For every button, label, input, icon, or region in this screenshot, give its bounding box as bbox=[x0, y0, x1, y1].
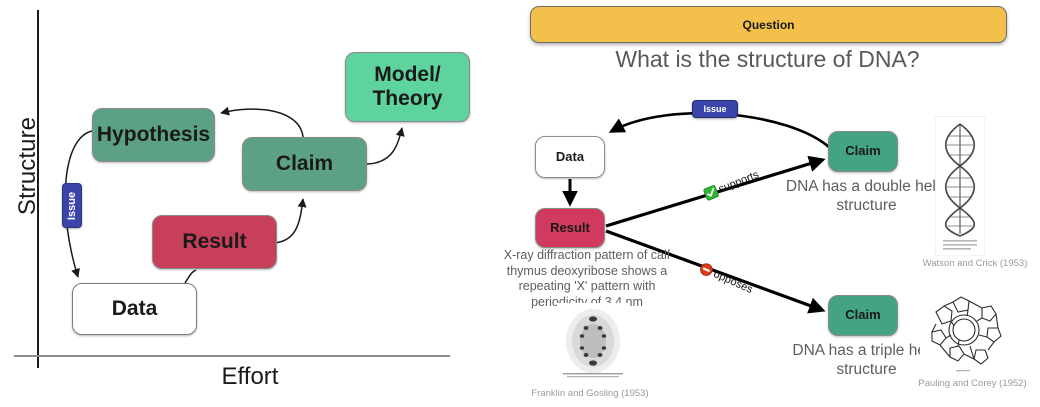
figure-double-helix-drawing bbox=[935, 116, 985, 256]
node-data-left-label: Data bbox=[112, 297, 158, 321]
caption-result: X-ray diffraction pattern of calf thymus… bbox=[492, 248, 682, 311]
node-claim-left-label: Claim bbox=[276, 152, 333, 176]
right-panel-dna-argument-map: Question What is the structure of DNA? bbox=[500, 0, 1040, 407]
attribution-pauling: Pauling and Corey (1952) bbox=[905, 378, 1040, 389]
left-panel-structure-vs-effort: Structure Effort Model/ Theory Hypothesi… bbox=[0, 0, 500, 407]
question-banner-label: Question bbox=[742, 18, 794, 32]
node-claim-top[interactable]: Claim bbox=[828, 131, 898, 172]
node-hypothesis[interactable]: Hypothesis bbox=[92, 108, 215, 162]
edge-label-opposes-text: opposes bbox=[712, 268, 755, 296]
node-data-right[interactable]: Data bbox=[535, 136, 605, 178]
node-data-right-label: Data bbox=[556, 150, 584, 165]
node-claim-bottom[interactable]: Claim bbox=[828, 295, 898, 336]
node-model-theory-line1: Model/ bbox=[374, 63, 441, 87]
node-result-left-label: Result bbox=[182, 230, 246, 254]
node-result-right-label: Result bbox=[550, 221, 590, 236]
node-claim-top-label: Claim bbox=[845, 144, 880, 159]
edge-label-supports: supports bbox=[703, 168, 761, 201]
attribution-watson: Watson and Crick (1953) bbox=[910, 258, 1040, 269]
node-data-left[interactable]: Data bbox=[72, 283, 197, 335]
node-model-theory-line2: Theory bbox=[372, 87, 442, 111]
diagram-canvas: Structure Effort Model/ Theory Hypothesi… bbox=[0, 0, 1040, 407]
x-axis-line bbox=[14, 355, 450, 357]
edge-label-supports-text: supports bbox=[717, 168, 761, 195]
node-model-theory[interactable]: Model/ Theory bbox=[345, 52, 470, 122]
question-text: What is the structure of DNA? bbox=[530, 46, 1005, 73]
node-hypothesis-label: Hypothesis bbox=[97, 123, 210, 147]
question-banner[interactable]: Question bbox=[530, 6, 1007, 43]
node-claim-left[interactable]: Claim bbox=[242, 137, 367, 191]
node-result-left[interactable]: Result bbox=[152, 215, 277, 269]
x-axis-label: Effort bbox=[160, 363, 340, 391]
badge-issue-right[interactable]: Issue bbox=[692, 100, 738, 118]
badge-issue-right-label: Issue bbox=[703, 104, 726, 114]
caption-claim-top: DNA has a double helix structure bbox=[784, 177, 949, 216]
badge-issue-left[interactable]: Issue bbox=[62, 183, 82, 228]
figure-triple-helix-molecular-structure bbox=[920, 290, 1006, 376]
figure-xray-diffraction-photo bbox=[557, 303, 629, 386]
y-axis-label: Structure bbox=[14, 86, 42, 246]
node-result-right[interactable]: Result bbox=[535, 208, 605, 248]
badge-issue-left-label: Issue bbox=[66, 191, 78, 219]
edge-label-opposes: opposes bbox=[698, 261, 755, 296]
attribution-franklin: Franklin and Gosling (1953) bbox=[510, 388, 670, 399]
node-claim-bottom-label: Claim bbox=[845, 308, 880, 323]
